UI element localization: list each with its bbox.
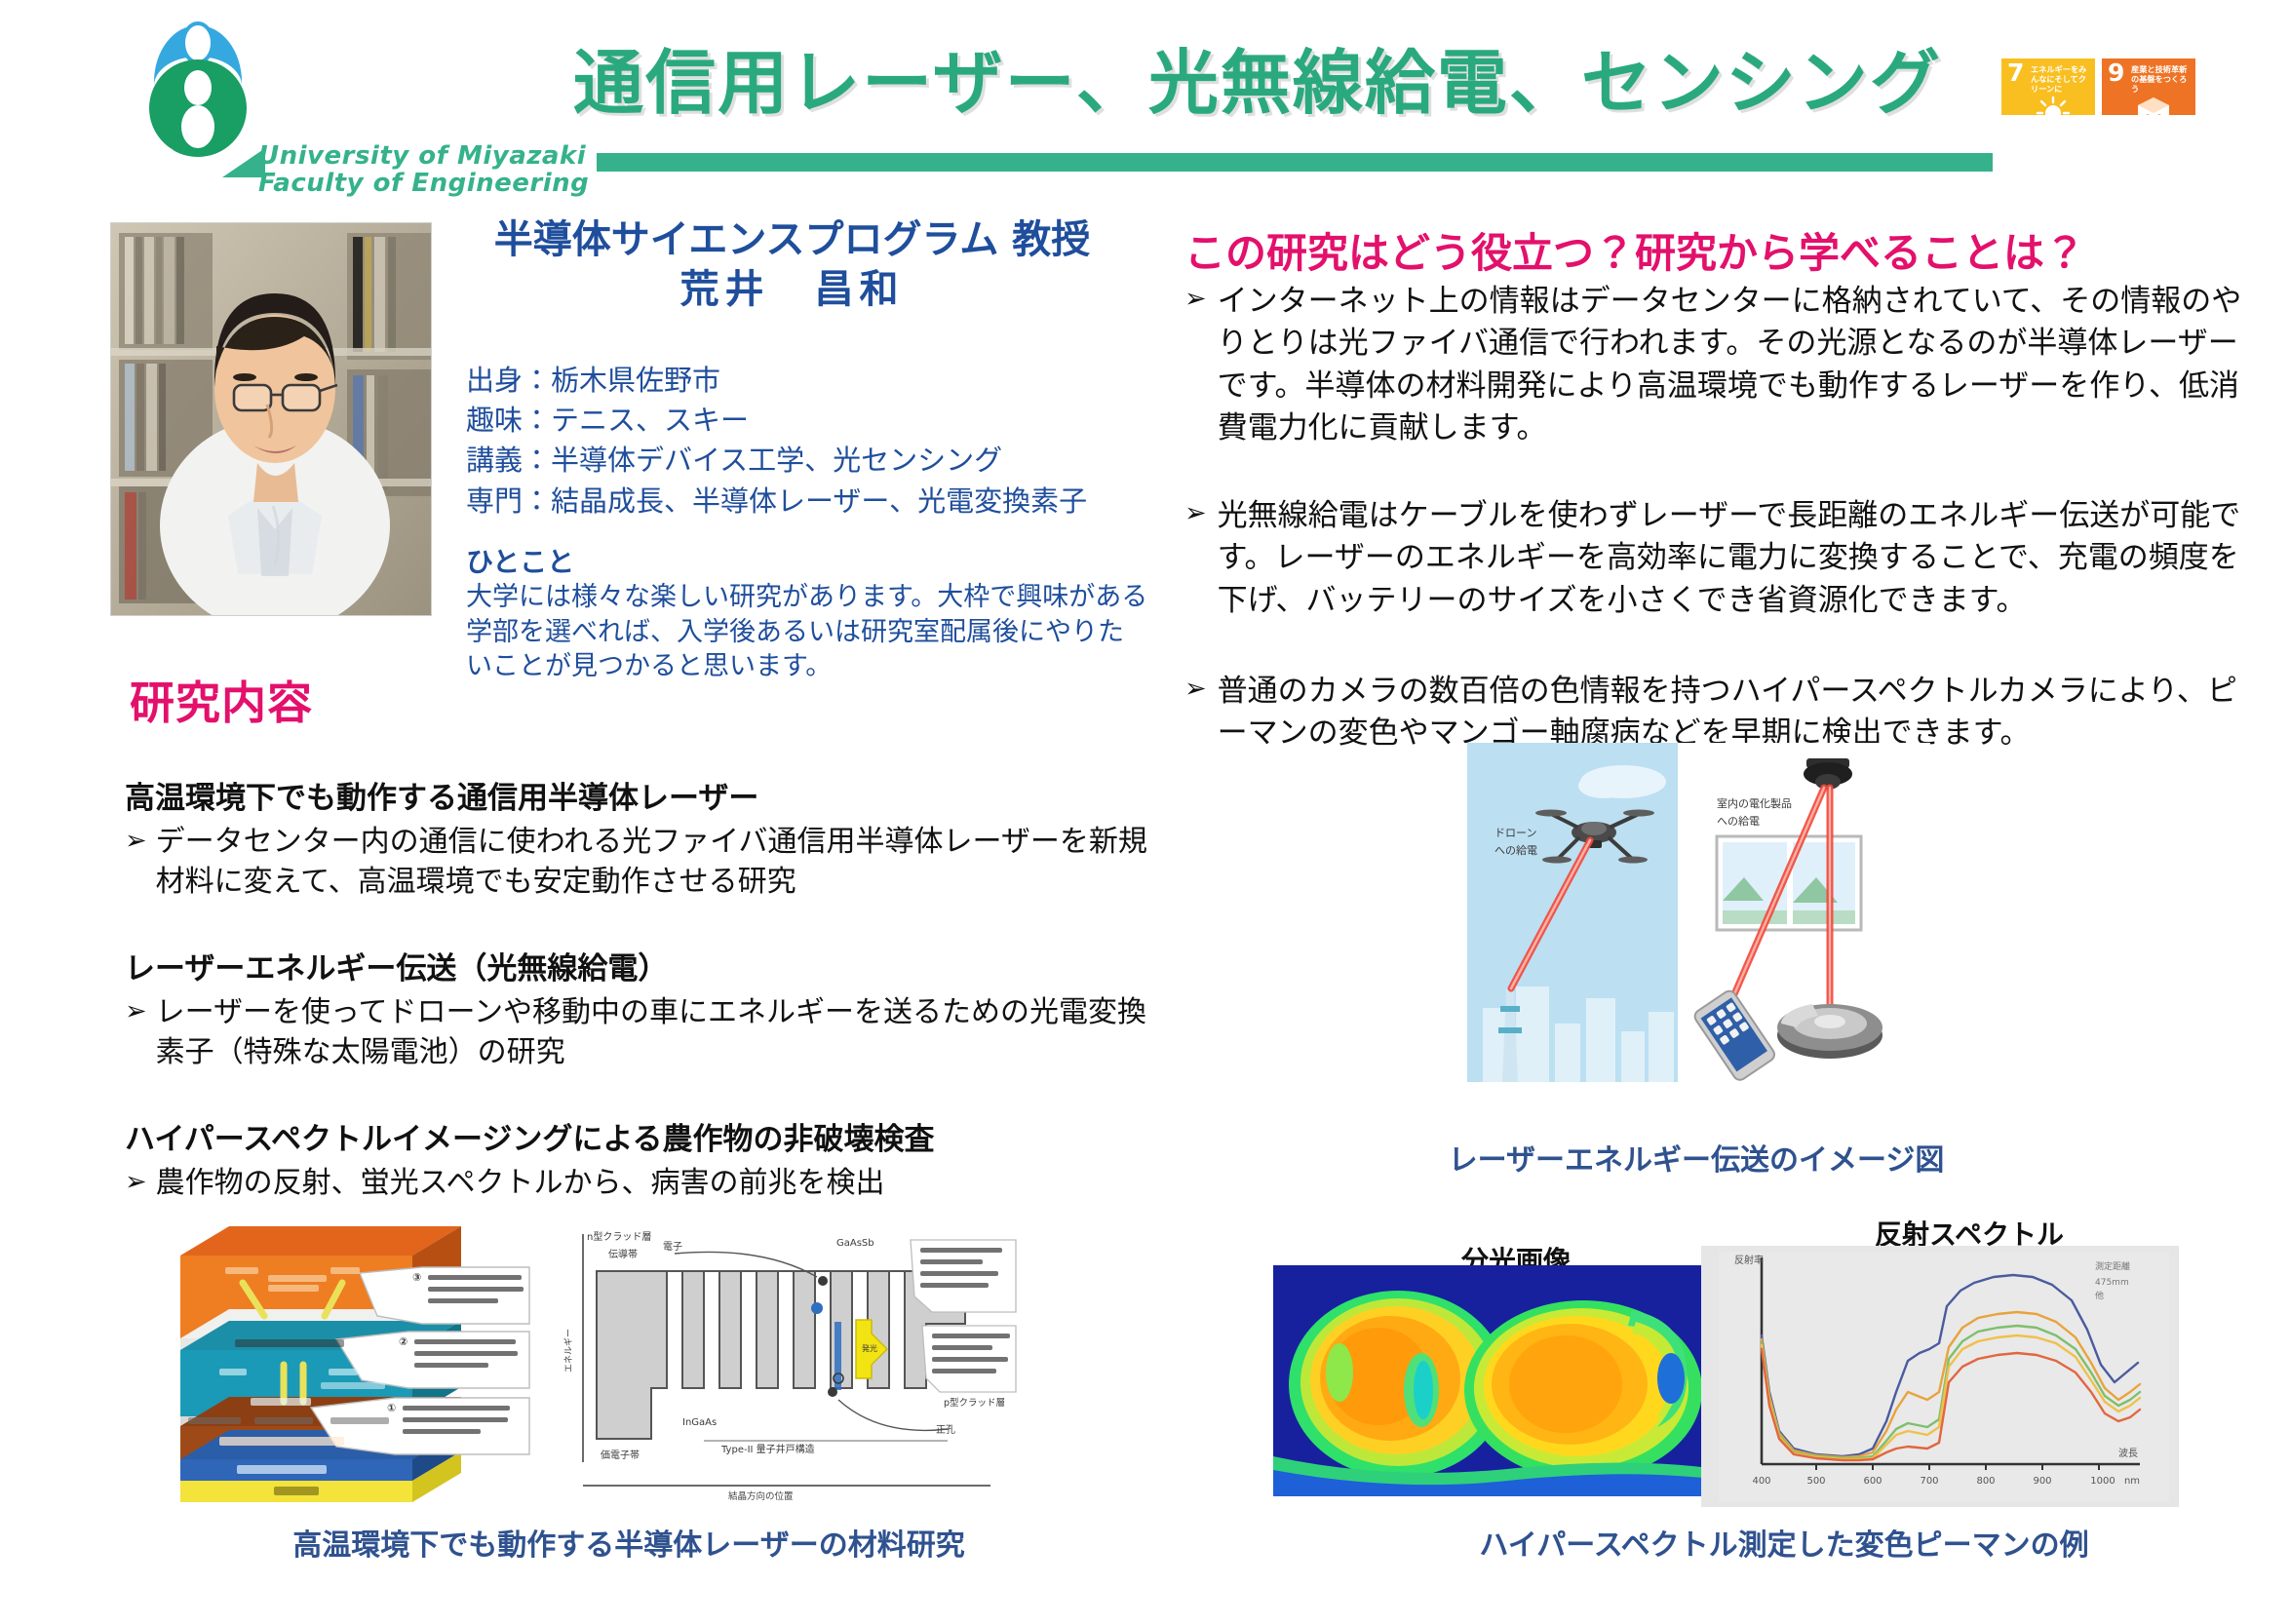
- left-figure-caption: 高温環境下でも動作する半導体レーザーの材料研究: [136, 1521, 1121, 1564]
- sdg-badge-group: 7 エネルギーをみんなにそしてクリーンに 9 産業と技術革新の基盤をつくろう: [2001, 58, 2195, 115]
- sdg-7-number: 7: [2007, 60, 2024, 85]
- right-figure-caption: ハイパースペクトル測定した変色ピーマンの例: [1297, 1521, 2271, 1564]
- professor-title-block: 半導体サイエンスプログラム 教授 荒井 昌和: [444, 216, 1141, 314]
- callout-label-2: ②: [399, 1335, 408, 1348]
- topic-3-heading: ハイパースペクトルイメージングによる農作物の非破壊検査: [125, 1121, 1168, 1159]
- x-axis-label: 波長: [2118, 1447, 2138, 1459]
- x-unit-label: nm: [2124, 1476, 2140, 1487]
- detail-lectures: 講義：半導体デバイス工学、光センシング: [466, 441, 1168, 481]
- laser-energy-transmission-figure: ドローン への給電 室内の電化製品 への給電: [1457, 743, 1930, 1128]
- layer-stack-image: ③ ② ①: [130, 1207, 537, 1511]
- topic-1-heading: 高温環境下でも動作する通信用半導体レーザー: [125, 780, 1168, 818]
- band-diagram-image: エネルギー 結晶方向の位置 発光 n型クラッド層 伝導帯 電子 GaAsSb I…: [558, 1207, 1016, 1511]
- bullet-arrow-icon: ➢: [125, 993, 147, 1073]
- chart-annotation-2: 475mm: [2095, 1278, 2129, 1288]
- hitokoto-label: ひとこと: [466, 541, 574, 580]
- callout-label-1: ①: [387, 1402, 396, 1414]
- callout-label-3: ③: [412, 1271, 421, 1284]
- emission-label: 発光: [862, 1343, 877, 1353]
- quantum-well-band-diagram-figure: エネルギー 結晶方向の位置 発光 n型クラッド層 伝導帯 電子 GaAsSb I…: [558, 1207, 1016, 1511]
- label-gaassb: GaAsSb: [836, 1238, 874, 1249]
- semiconductor-layer-stack-figure: ③ ② ①: [130, 1207, 537, 1511]
- research-topic-3: ハイパースペクトルイメージングによる農作物の非破壊検査 ➢ 農作物の反射、蛍光ス…: [125, 1121, 1168, 1204]
- spectral-image-figure: [1273, 1265, 1758, 1496]
- xtick-1000: 1000: [2090, 1476, 2115, 1487]
- xtick-800: 800: [1976, 1476, 1995, 1487]
- y-axis-label: 反射率: [1734, 1255, 1764, 1266]
- detail-hobby: 趣味：テニス、スキー: [466, 401, 1168, 441]
- xtick-700: 700: [1920, 1476, 1938, 1487]
- university-logo: [115, 14, 281, 160]
- sun-icon: [2031, 92, 2076, 115]
- label-hole: 正孔: [936, 1424, 955, 1436]
- label-drone-charging: ドローン: [1494, 827, 1536, 839]
- laser-figure-caption: レーザーエネルギー伝送のイメージ図: [1345, 1136, 2047, 1179]
- university-name: University of Miyazaki Faculty of Engine…: [258, 142, 589, 197]
- false-color-pepper-image: [1273, 1265, 1758, 1496]
- sdg-badge-9: 9 産業と技術革新の基盤をつくろう: [2102, 58, 2195, 115]
- sdg-badge-7: 7 エネルギーをみんなにそしてクリーンに: [2001, 58, 2095, 115]
- topic-1-body: データセンター内の通信に使われる光ファイバ通信用半導体レーザーを新規材料に変えて…: [156, 823, 1168, 903]
- professor-name: 荒井 昌和: [444, 266, 1141, 314]
- program-title: 半導体サイエンスプログラム 教授: [444, 216, 1141, 264]
- chart-annotation-3: 他: [2095, 1290, 2104, 1301]
- benefit-item-1: ➢ インターネット上の情報はデータセンターに格納されていて、その情報のやりとりは…: [1184, 281, 2247, 450]
- label-p-clad: p型クラッド層: [944, 1398, 1005, 1409]
- professor-details: 出身：栃木県佐野市 趣味：テニス、スキー 講義：半導体デバイス工学、光センシング…: [466, 361, 1168, 522]
- xtick-600: 600: [1863, 1476, 1882, 1487]
- label-electron: 電子: [663, 1241, 682, 1253]
- chart-annotation-1: 測定距離: [2095, 1260, 2130, 1272]
- university-line-1: University of Miyazaki: [258, 142, 589, 170]
- xtick-400: 400: [1752, 1476, 1770, 1487]
- xtick-900: 900: [2033, 1476, 2051, 1487]
- label-valence-band: 価電子帯: [601, 1449, 640, 1461]
- university-line-2: Faculty of Engineering: [258, 170, 589, 197]
- label-ingaas: InGaAs: [682, 1417, 717, 1428]
- bullet-arrow-icon: ➢: [1184, 495, 1207, 622]
- spectrum-plot-svg: 400 500 600 700 800 900 1000 nm 反射率 波長 測…: [1701, 1246, 2179, 1507]
- benefits-section-title: この研究はどう役立つ？研究から学べることは？: [1184, 220, 2085, 280]
- topic-2-body: レーザーを使ってドローンや移動中の車にエネルギーを送るための光電変換素子（特殊な…: [156, 993, 1168, 1073]
- bullet-arrow-icon: ➢: [1184, 671, 1207, 755]
- benefit-1-text: インターネット上の情報はデータセンターに格納されていて、その情報のやりとりは光フ…: [1218, 281, 2247, 450]
- header-divider-bar: [597, 153, 1993, 172]
- bullet-arrow-icon: ➢: [1184, 281, 1207, 450]
- research-topic-1: 高温環境下でも動作する通信用半導体レーザー ➢ データセンター内の通信に使われる…: [125, 780, 1168, 902]
- bullet-arrow-icon: ➢: [125, 823, 147, 903]
- axis-label-position: 結晶方向の位置: [728, 1490, 794, 1502]
- label-conduction-band: 伝導帯: [608, 1248, 638, 1260]
- topic-3-body: 農作物の反射、蛍光スペクトルから、病害の前兆を検出: [156, 1164, 1168, 1204]
- benefit-item-2: ➢ 光無線給電はケーブルを使わずレーザーで長距離のエネルギー伝送が可能です。レー…: [1184, 495, 2247, 622]
- research-section-title: 研究内容: [130, 668, 313, 732]
- sdg-9-label: 産業と技術革新の基盤をつくろう: [2131, 64, 2192, 94]
- sdg-9-number: 9: [2108, 60, 2124, 85]
- bullet-arrow-icon: ➢: [125, 1164, 147, 1204]
- label-n-clad: n型クラッド層: [587, 1230, 651, 1243]
- benefit-2-text: 光無線給電はケーブルを使わずレーザーで長距離のエネルギー伝送が可能です。レーザー…: [1218, 495, 2247, 622]
- page-header: University of Miyazaki Faculty of Engine…: [0, 0, 2290, 200]
- svg-text:への給電: への給電: [1717, 815, 1760, 828]
- hitokoto-body: 大学には様々な楽しい研究があります。大枠で興味がある学部を選べれば、入学後あるい…: [466, 580, 1148, 684]
- professor-photo: [110, 222, 432, 616]
- detail-specialty: 専門：結晶成長、半導体レーザー、光電変換素子: [466, 482, 1168, 522]
- axis-label-energy: エネルギー: [563, 1329, 574, 1373]
- label-indoor-charging: 室内の電化製品: [1717, 796, 1792, 810]
- svg-text:への給電: への給電: [1494, 844, 1537, 857]
- label-typeii: Type-II 量子井戸構造: [720, 1443, 815, 1455]
- cube-icon: [2131, 92, 2176, 115]
- miyazaki-logo-icon: [115, 14, 281, 160]
- page-title: 通信用レーザー、光無線給電、センシング: [546, 25, 1969, 128]
- laser-transmission-image: ドローン への給電 室内の電化製品 への給電: [1457, 743, 1930, 1128]
- reflection-spectrum-chart: 400 500 600 700 800 900 1000 nm 反射率 波長 測…: [1701, 1246, 2179, 1507]
- topic-2-heading: レーザーエネルギー伝送（光無線給電）: [125, 950, 1168, 988]
- research-topic-2: レーザーエネルギー伝送（光無線給電） ➢ レーザーを使ってドローンや移動中の車に…: [125, 950, 1168, 1072]
- xtick-500: 500: [1806, 1476, 1825, 1487]
- sdg-7-label: エネルギーをみんなにそしてクリーンに: [2031, 64, 2091, 94]
- portrait-photo-image: [111, 223, 431, 615]
- detail-origin: 出身：栃木県佐野市: [466, 361, 1168, 401]
